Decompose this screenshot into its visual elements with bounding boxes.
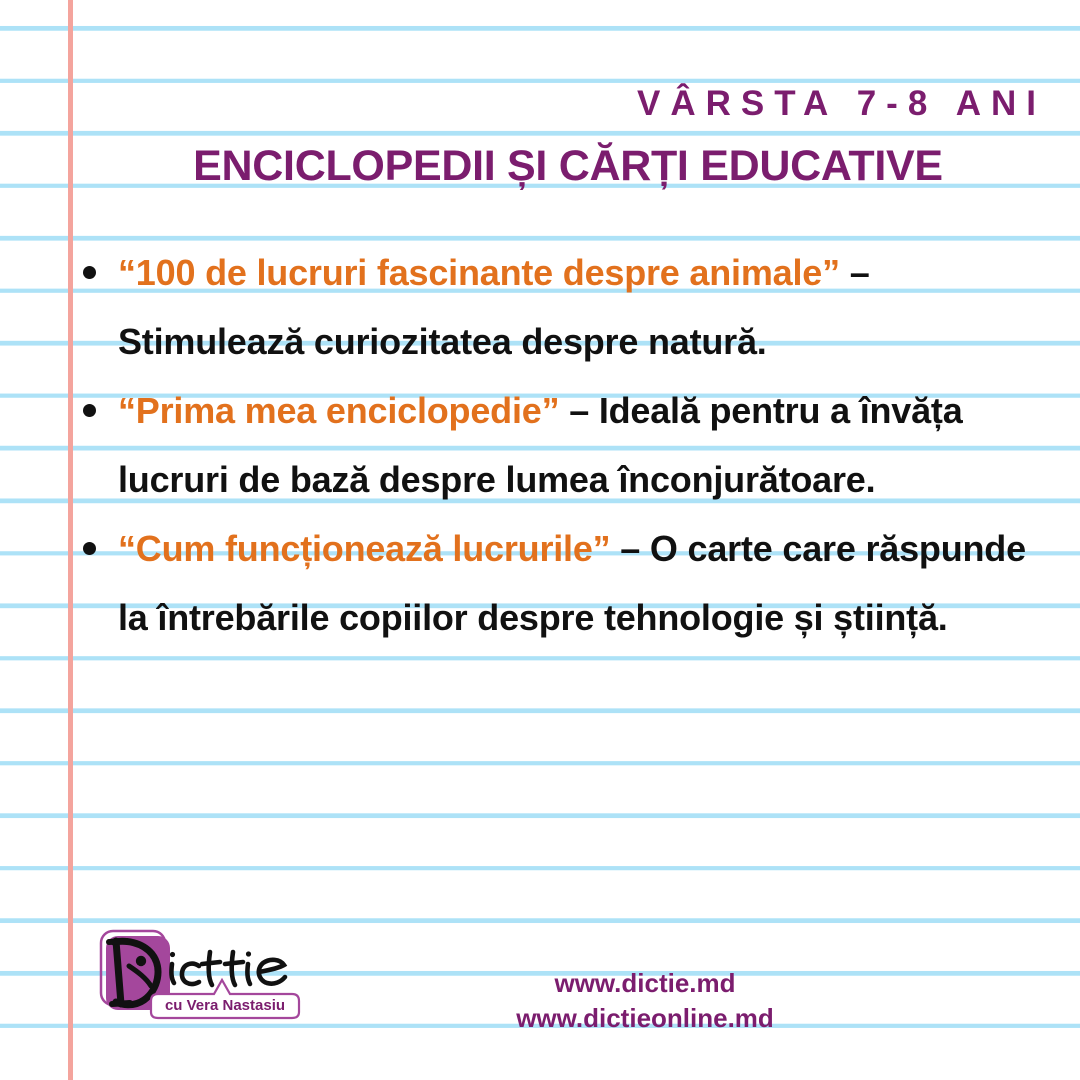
- footer-websites: www.dictie.md www.dictieonline.md: [330, 966, 960, 1036]
- logo-tagline: cu Vera Nastasiu: [165, 997, 285, 1014]
- book-title: “100 de lucruri fascinante despre animal…: [118, 252, 840, 293]
- page-content: VÂRSTA 7-8 ANI ENCICLOPEDII ȘI CĂRȚI EDU…: [0, 0, 1080, 1080]
- website-secondary[interactable]: www.dictieonline.md: [330, 1001, 960, 1036]
- book-list: “100 de lucruri fascinante despre animal…: [82, 238, 1040, 652]
- list-item: “Prima mea enciclopedie” – Ideală pentru…: [82, 376, 1040, 514]
- website-primary[interactable]: www.dictie.md: [330, 966, 960, 1001]
- notebook-page: VÂRSTA 7-8 ANI ENCICLOPEDII ȘI CĂRȚI EDU…: [0, 0, 1080, 1080]
- page-title: ENCICLOPEDII ȘI CĂRȚI EDUCATIVE: [90, 142, 1046, 190]
- list-item: “100 de lucruri fascinante despre animal…: [82, 238, 1040, 376]
- brand-logo: cu Vera Nastasiu: [96, 928, 306, 1020]
- bullet-dot-icon: [83, 404, 96, 417]
- list-item: “Cum funcționează lucrurile” – O carte c…: [82, 514, 1040, 652]
- logo-wordmark-icon: [170, 951, 285, 985]
- bullet-dot-icon: [83, 542, 96, 555]
- bullet-dot-icon: [83, 266, 96, 279]
- book-title: “Prima mea enciclopedie”: [118, 390, 559, 431]
- age-kicker: VÂRSTA 7-8 ANI: [637, 86, 1046, 121]
- logo-artwork: cu Vera Nastasiu: [96, 928, 306, 1020]
- book-title: “Cum funcționează lucrurile”: [118, 528, 610, 569]
